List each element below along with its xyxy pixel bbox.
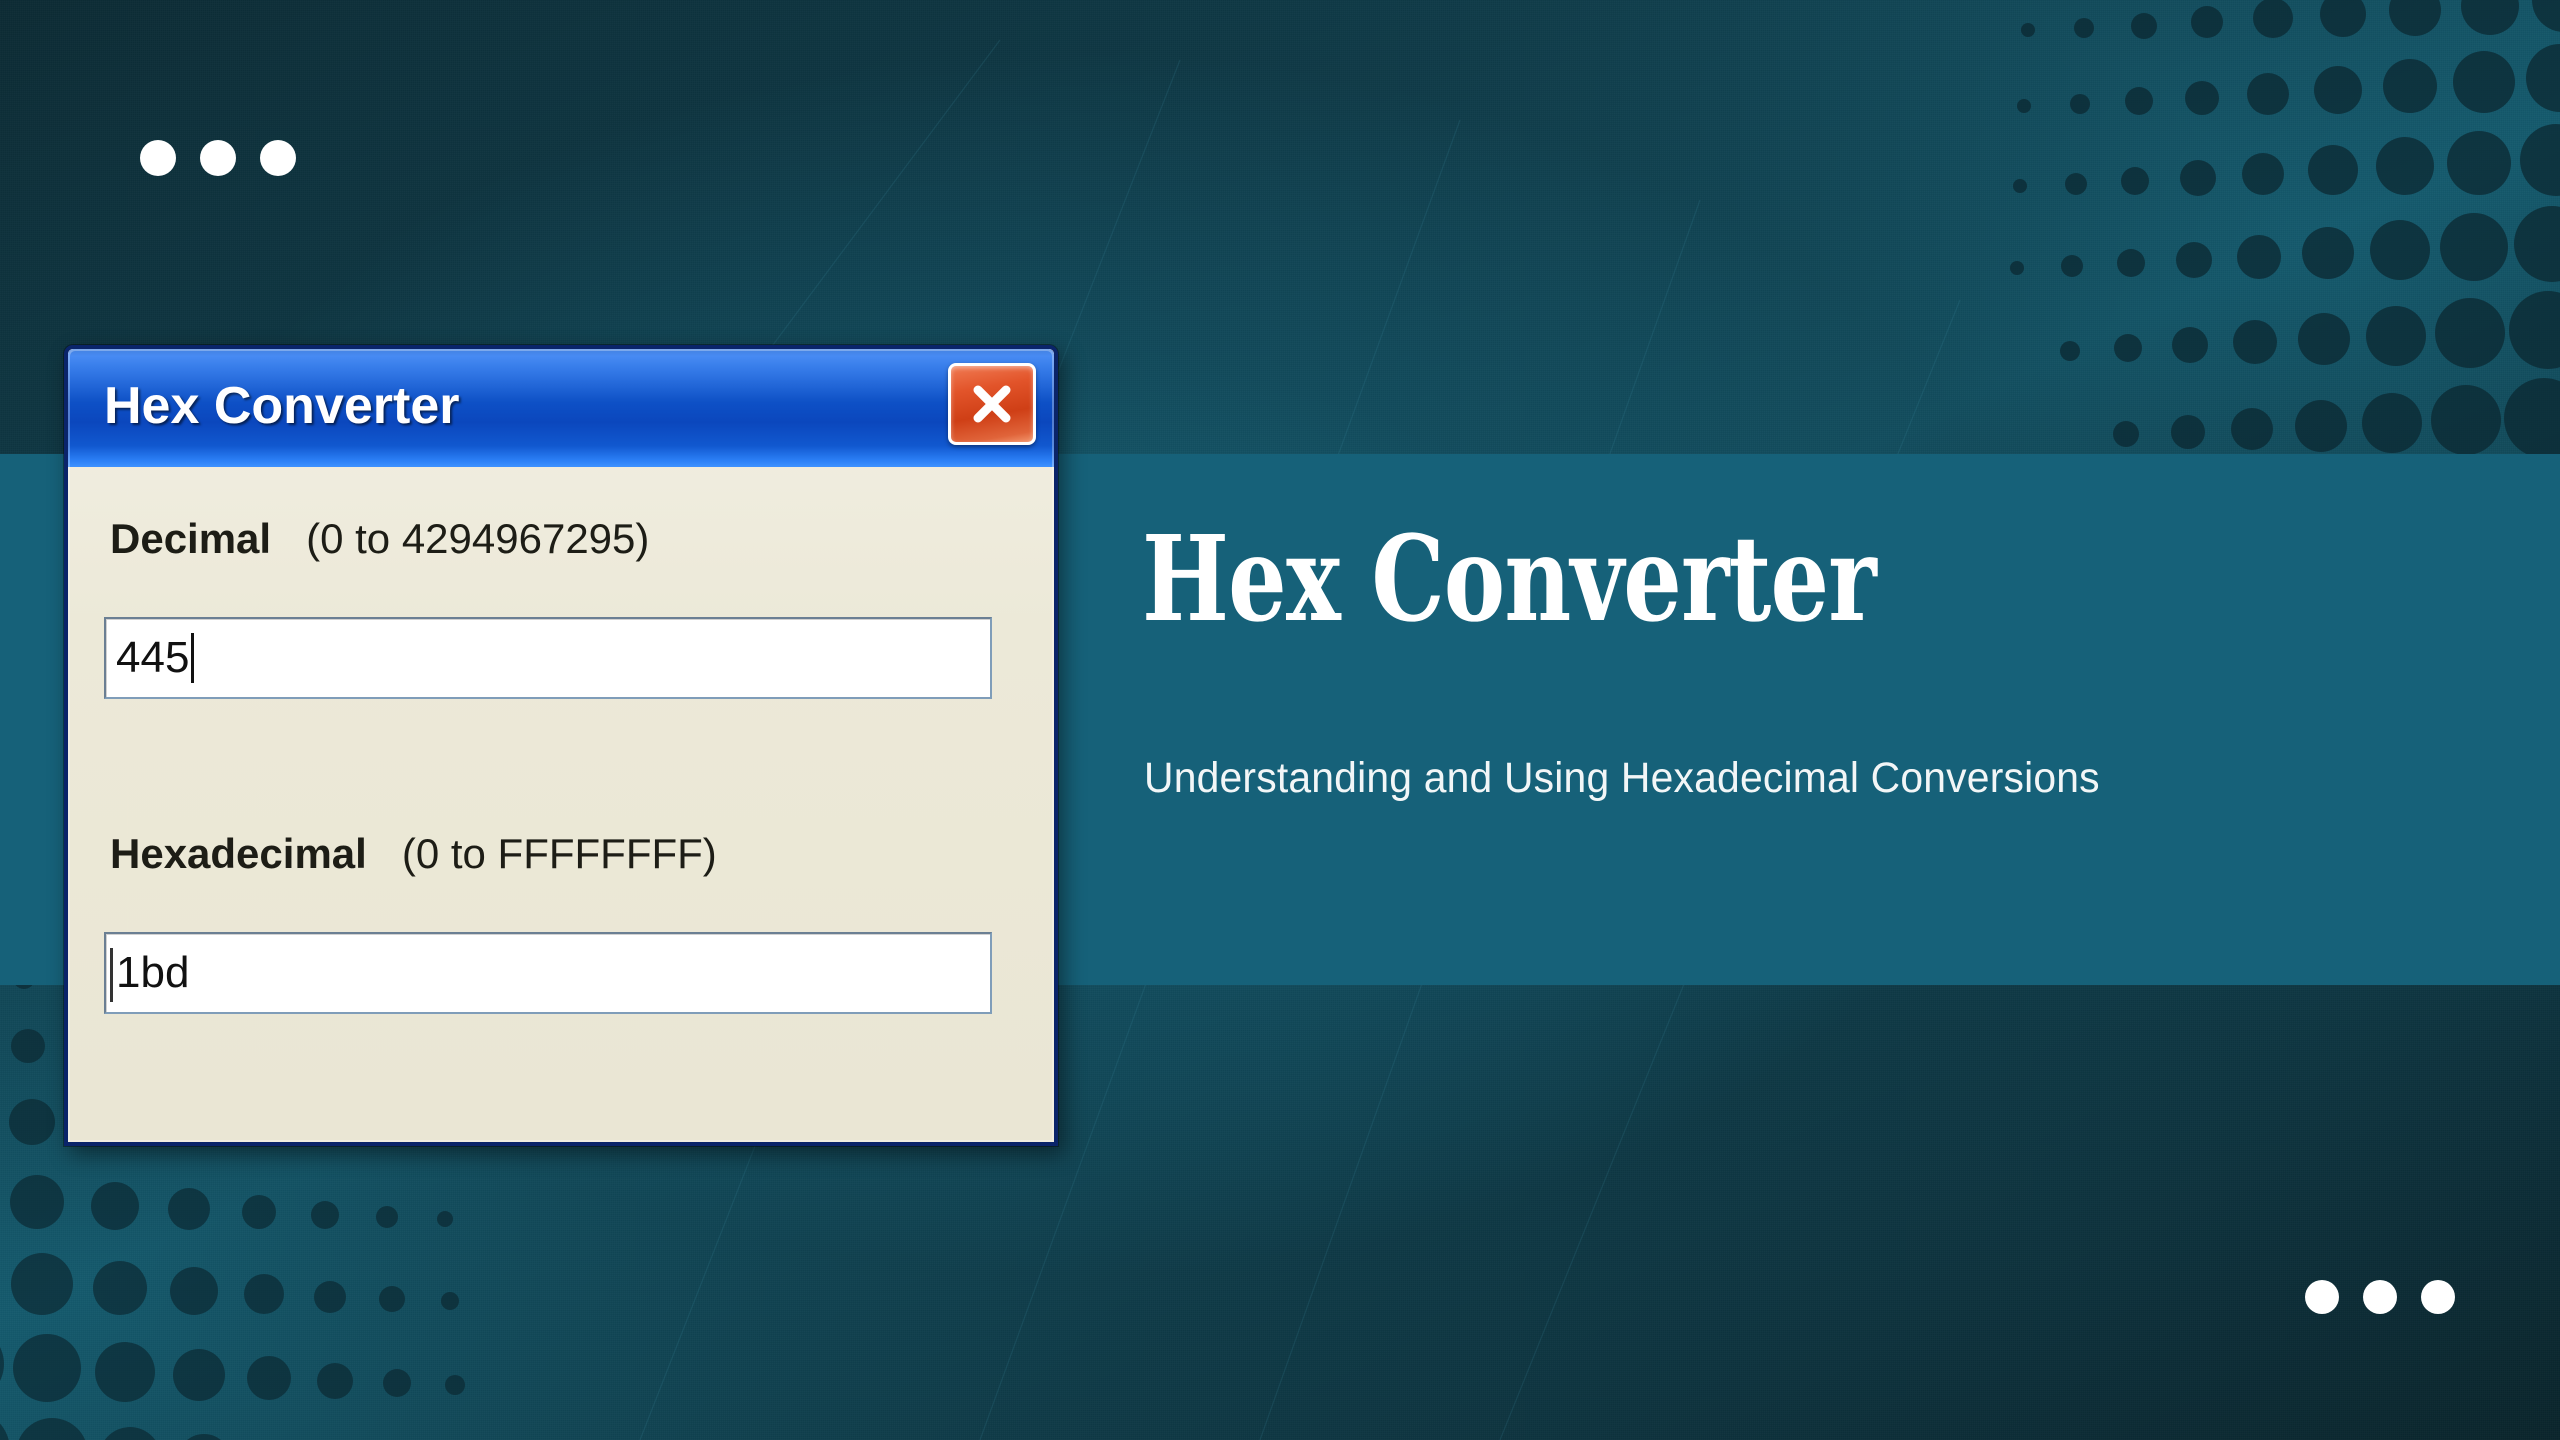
dot	[2421, 1280, 2455, 1314]
hexadecimal-label-text: Hexadecimal	[110, 830, 367, 877]
hexadecimal-field-label: Hexadecimal (0 to FFFFFFFF)	[110, 830, 717, 878]
hex-converter-window[interactable]: Hex Converter Decimal (0 to 4294967295) …	[64, 345, 1058, 1146]
slide-subtitle: Understanding and Using Hexadecimal Conv…	[1144, 748, 2161, 809]
decorative-dots-top-left	[140, 140, 296, 176]
decorative-dots-bottom-right	[2305, 1280, 2455, 1314]
dot	[260, 140, 296, 176]
hexadecimal-range-text: (0 to FFFFFFFF)	[402, 830, 717, 877]
text-caret-leading	[110, 948, 113, 1002]
text-caret	[191, 633, 194, 683]
dot	[2363, 1280, 2397, 1314]
window-titlebar[interactable]: Hex Converter	[68, 349, 1054, 467]
close-x-icon	[966, 378, 1018, 430]
close-button[interactable]	[948, 363, 1036, 445]
dot	[200, 140, 236, 176]
decimal-input[interactable]: 445	[104, 617, 992, 699]
hexadecimal-input[interactable]: 1bd	[104, 932, 992, 1014]
hexadecimal-input-value: 1bd	[116, 951, 189, 995]
decimal-field-label: Decimal (0 to 4294967295)	[110, 515, 649, 563]
dot	[2305, 1280, 2339, 1314]
decimal-input-value: 445	[116, 636, 189, 680]
window-title: Hex Converter	[104, 376, 459, 436]
decimal-label-text: Decimal	[110, 515, 271, 562]
dot	[140, 140, 176, 176]
decimal-range-text: (0 to 4294967295)	[306, 515, 649, 562]
window-body: Decimal (0 to 4294967295) 445 Hexadecima…	[68, 467, 1054, 1142]
slide-headline: Hex Converter	[1142, 520, 1876, 638]
presentation-slide: Hex Converter Understanding and Using He…	[0, 0, 2560, 1440]
